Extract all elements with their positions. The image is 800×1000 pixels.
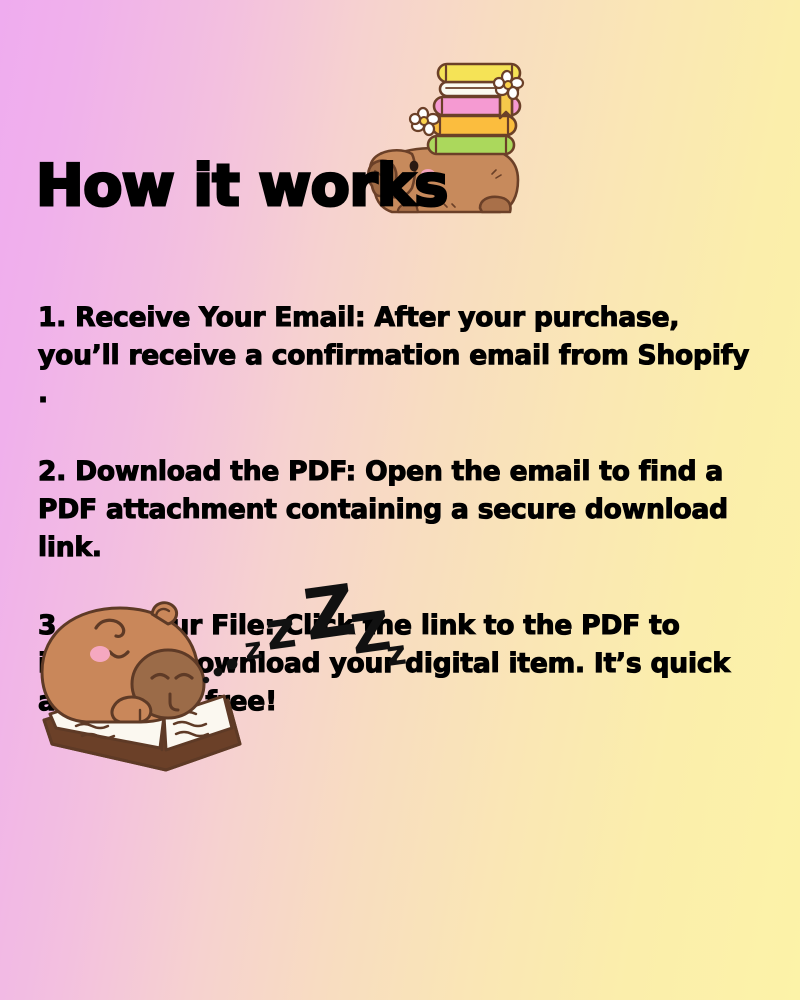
- book-orange: [432, 116, 516, 135]
- zzz-dots: [203, 659, 238, 684]
- step-item-1: 1. Receive Your Email: After your purcha…: [38, 299, 764, 413]
- step-item-2: 2. Download the PDF: Open the email to f…: [38, 453, 764, 567]
- page-title: How it works: [36, 158, 448, 215]
- svg-text:z: z: [261, 599, 299, 663]
- book-green: [428, 136, 514, 154]
- sleeping-capybara-body: [42, 603, 204, 722]
- svg-text:z: z: [384, 633, 409, 675]
- svg-text:z: z: [242, 631, 264, 668]
- poster-canvas: How it works 1. Receive Your Email: Afte…: [0, 0, 800, 1000]
- sleeping-capybara-on-book-illustration: z z Z Z z: [28, 588, 418, 793]
